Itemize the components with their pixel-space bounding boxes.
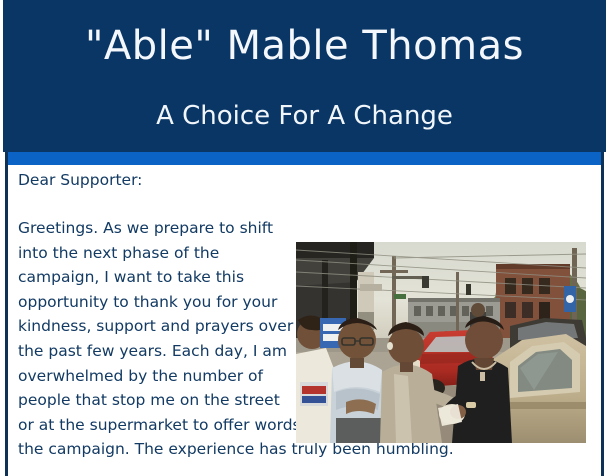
campaign-photo-artwork bbox=[296, 242, 586, 443]
banner-accent-stripe bbox=[6, 152, 603, 165]
campaign-letter-page: "Able" Mable Thomas A Choice For A Chang… bbox=[0, 0, 609, 476]
letter-salutation: Dear Supporter: bbox=[18, 170, 598, 190]
left-border-rule bbox=[5, 152, 8, 476]
campaign-photo bbox=[296, 242, 586, 443]
page-title: "Able" Mable Thomas bbox=[3, 22, 606, 70]
header-banner: "Able" Mable Thomas A Choice For A Chang… bbox=[3, 0, 606, 152]
right-border-rule bbox=[601, 152, 604, 476]
campaign-slogan: A Choice For A Change bbox=[3, 100, 606, 132]
